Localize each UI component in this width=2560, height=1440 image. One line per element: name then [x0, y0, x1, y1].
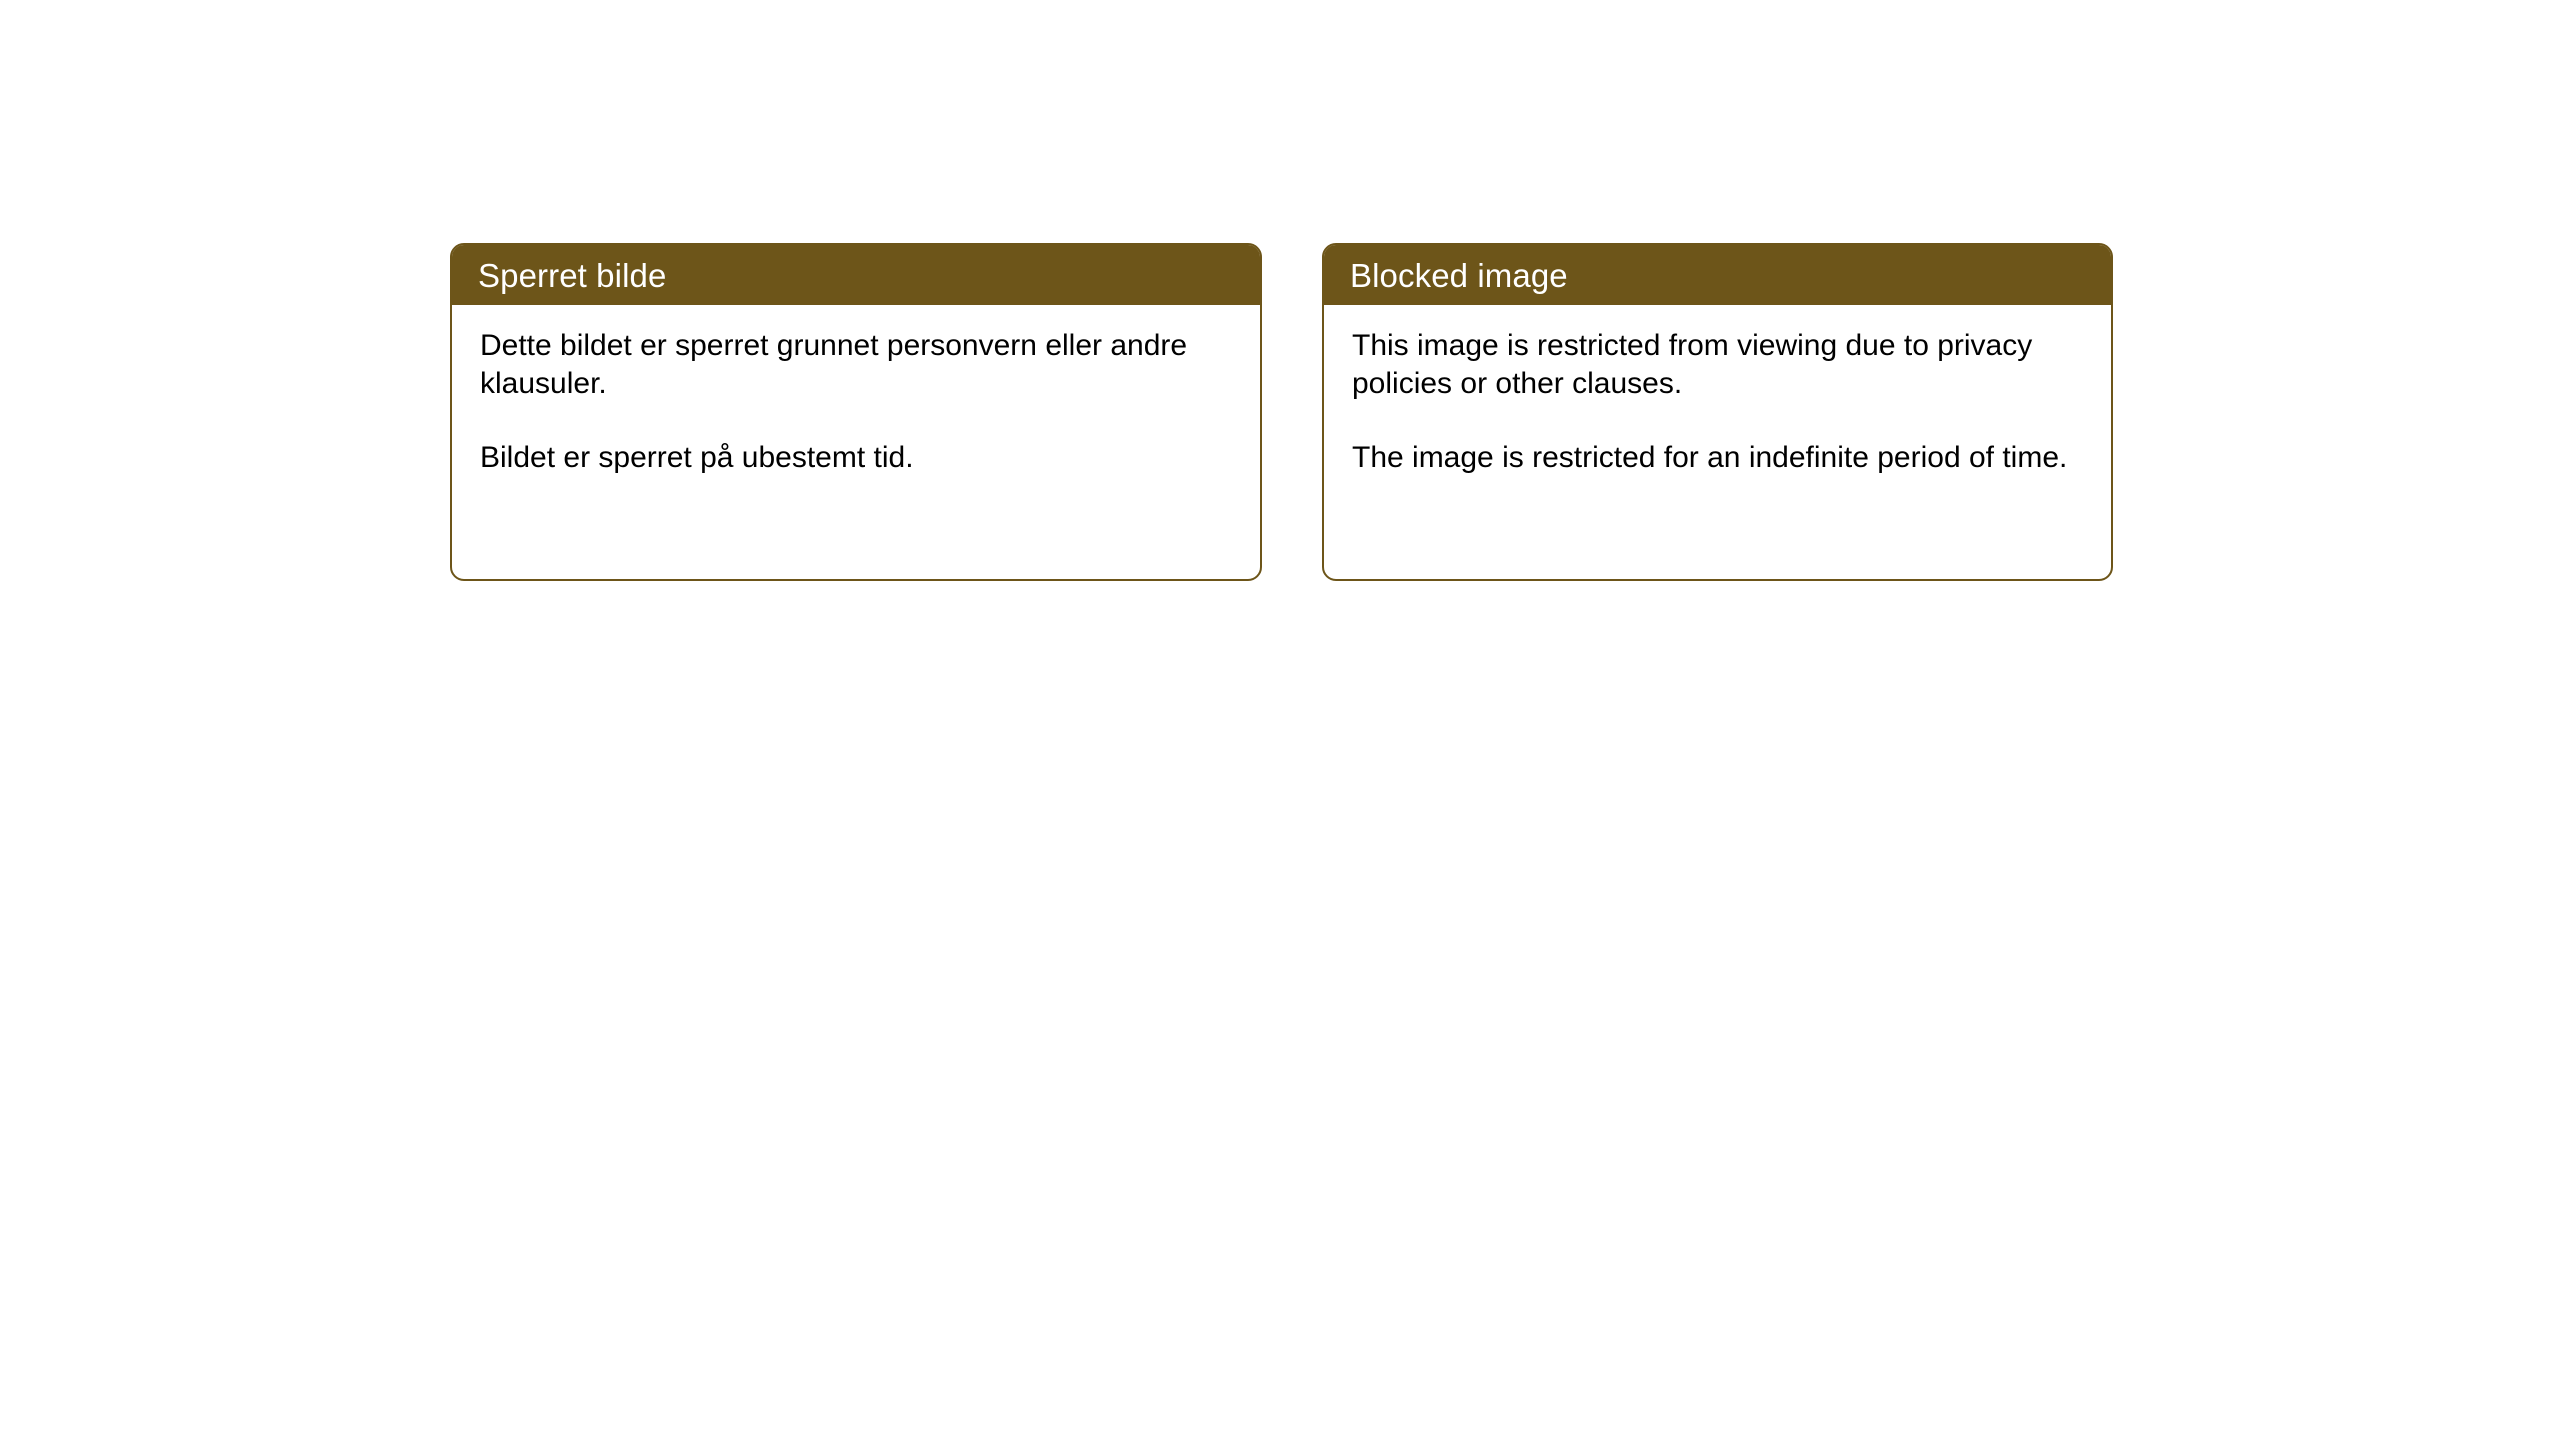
- blocked-image-notice-card-norwegian: Sperret bilde Dette bildet er sperret gr…: [450, 243, 1262, 581]
- notice-paragraph-secondary: Bildet er sperret på ubestemt tid.: [480, 439, 1234, 477]
- notice-card-body: Dette bildet er sperret grunnet personve…: [452, 305, 1260, 477]
- notice-card-title: Sperret bilde: [478, 259, 666, 292]
- blocked-image-notice-card-english: Blocked image This image is restricted f…: [1322, 243, 2113, 581]
- page-root: Sperret bilde Dette bildet er sperret gr…: [0, 0, 2560, 1440]
- notice-card-header: Blocked image: [1324, 245, 2111, 305]
- notice-card-body: This image is restricted from viewing du…: [1324, 305, 2111, 477]
- notice-paragraph-primary: This image is restricted from viewing du…: [1352, 327, 2085, 403]
- notice-card-header: Sperret bilde: [452, 245, 1260, 305]
- notice-paragraph-primary: Dette bildet er sperret grunnet personve…: [480, 327, 1234, 403]
- notice-paragraph-secondary: The image is restricted for an indefinit…: [1352, 439, 2085, 477]
- notice-card-title: Blocked image: [1350, 259, 1568, 292]
